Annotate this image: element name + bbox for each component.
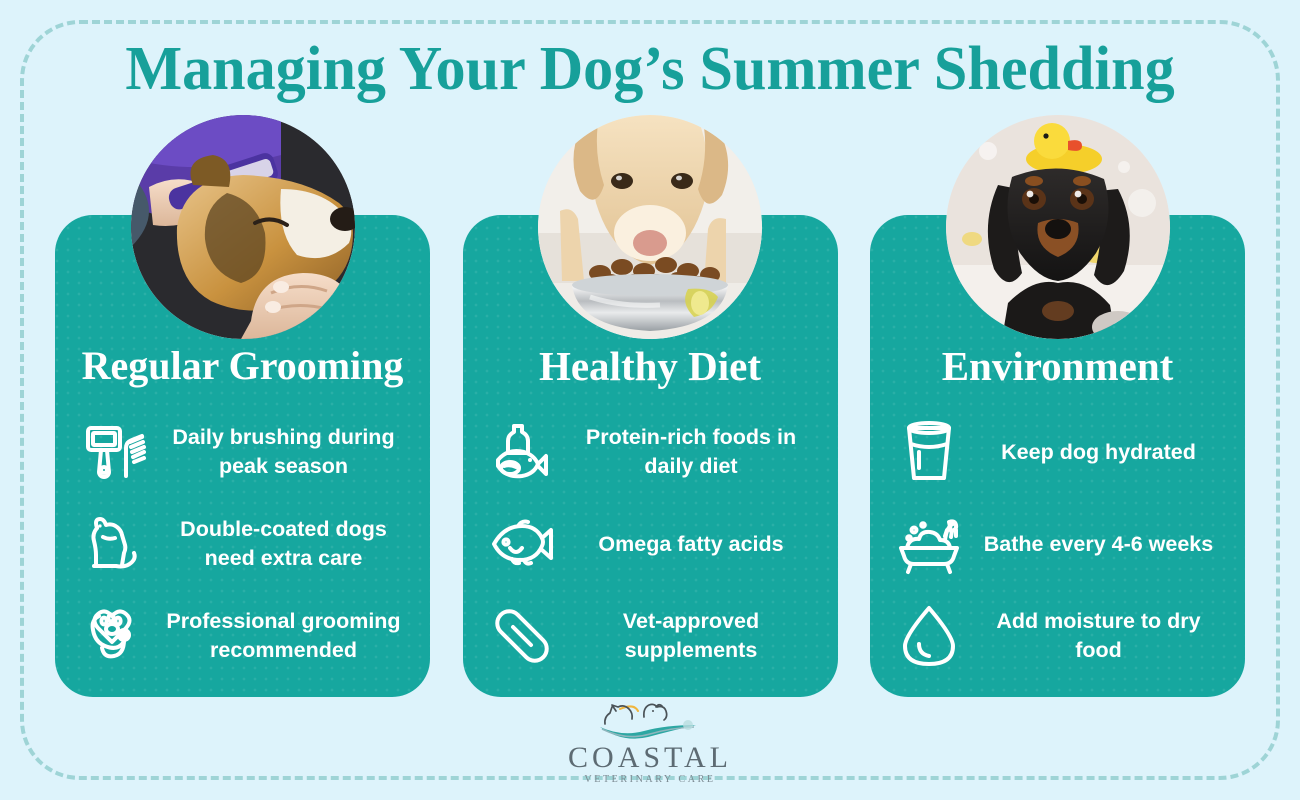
bullet-text: Double-coated dogs need extra care [155,515,408,573]
dog-being-brushed-photo [131,115,355,339]
bullet-text: Add moisture to dry food [970,607,1223,665]
bullet-text: Omega fatty acids [563,530,816,559]
cat-dog-wave-logo-icon [550,701,750,743]
labrador-eating-from-bowl-photo [538,115,762,339]
list-item: Protein-rich foods in daily diet [481,409,816,495]
bullet-text: Bathe every 4-6 weeks [970,530,1223,559]
paw-heart-stethoscope-icon [73,600,155,672]
bullet-text: Vet-approved supplements [563,607,816,665]
list-item: Vet-approved supplements [481,593,816,679]
fish-fillet-oil-icon [481,416,563,488]
list-item: Bathe every 4-6 weeks [888,501,1223,587]
page-title: Managing Your Dog’s Summer Shedding [20,30,1281,108]
cards-row: Regular Grooming Daily brushing during p… [55,215,1245,697]
bullet-text: Professional grooming recommended [155,607,408,665]
card-heading: Healthy Diet [463,343,838,389]
bathtub-icon [888,508,970,580]
dachshund-with-rubber-duck-photo [946,115,1170,339]
fish-icon [481,508,563,580]
water-drop-icon [888,600,970,672]
list-item: Keep dog hydrated [888,409,1223,495]
list-item: Daily brushing during peak season [73,409,408,495]
bullet-list: Protein-rich foods in daily diet Omega f… [463,409,838,679]
logo-wordmark: COASTAL [550,743,750,773]
card-healthy-diet: Healthy Diet Protein-rich foods in daily… [463,215,838,697]
bullet-text: Keep dog hydrated [970,438,1223,467]
card-regular-grooming: Regular Grooming Daily brushing during p… [55,215,430,697]
bullet-text: Daily brushing during peak season [155,423,408,481]
list-item: Professional grooming recommended [73,593,408,679]
list-item: Double-coated dogs need extra care [73,501,408,587]
list-item: Omega fatty acids [481,501,816,587]
card-environment: Environment Keep dog hydrated [870,215,1245,697]
footer-logo: COASTAL VETERINARY CARE [550,701,750,786]
bullet-list: Keep dog hydrated Bat [870,409,1245,679]
list-item: Add moisture to dry food [888,593,1223,679]
logo-tagline: VETERINARY CARE [550,773,750,786]
water-glass-icon [888,416,970,488]
card-heading: Regular Grooming [55,343,430,389]
card-heading: Environment [870,343,1245,389]
bullet-text: Protein-rich foods in daily diet [563,423,816,481]
sitting-dog-icon [73,508,155,580]
brush-comb-icon [73,416,155,488]
bullet-list: Daily brushing during peak season Double… [55,409,430,679]
capsule-pill-icon [481,600,563,672]
